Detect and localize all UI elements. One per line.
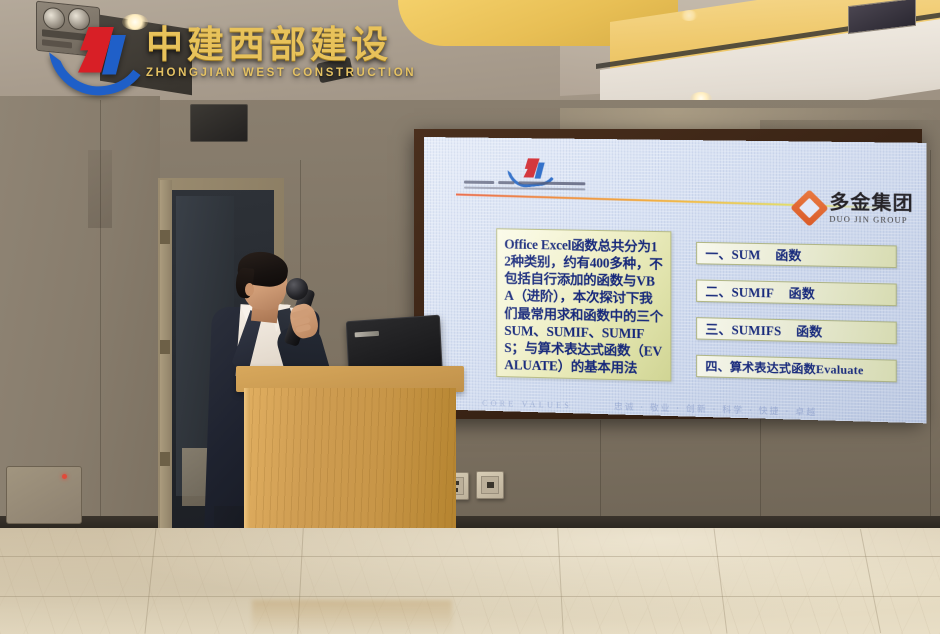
cscec-logo bbox=[464, 158, 587, 194]
door-hinge bbox=[160, 452, 170, 466]
zhongjian-west-construction-logo: 中建西部建设 ZHONGJIAN WEST CONSTRUCTION bbox=[52, 26, 416, 79]
podium-body bbox=[246, 388, 456, 538]
duojin-group-logo: 多金集团 DUO JIN GROUP bbox=[796, 192, 914, 225]
agenda-index: 二、 bbox=[705, 285, 731, 300]
watermark-logo-mark bbox=[52, 27, 136, 79]
downlight-icon bbox=[680, 10, 698, 21]
podium-floor-reflection bbox=[252, 600, 452, 634]
agenda-title: 算术表达式函数Evaluate bbox=[730, 361, 864, 378]
agenda-index: 三、 bbox=[705, 322, 731, 337]
presenter-ear bbox=[245, 283, 254, 296]
slide-paragraph: Office Excel函数总共分为12种类别，约有400多种，不包括自行添加的… bbox=[504, 235, 663, 377]
agenda-index: 一、 bbox=[705, 247, 731, 262]
agenda-suffix: 函数 bbox=[796, 324, 822, 339]
slide-footer-english: CORE VALUES bbox=[482, 398, 572, 410]
duojin-logo-english: DUO JIN GROUP bbox=[829, 216, 913, 226]
tile-grout-line bbox=[0, 596, 940, 597]
floor-reflection bbox=[0, 528, 940, 634]
presentation-slide: 多金集团 DUO JIN GROUP Office Excel函数总共分为12种… bbox=[434, 145, 926, 423]
wall-seam bbox=[600, 420, 601, 520]
agenda-item-sumif: 二、SUMIF函数 bbox=[696, 279, 897, 306]
wall-data-plate[interactable] bbox=[476, 471, 504, 499]
exit-sign-indicator-led bbox=[62, 474, 67, 479]
cscec-logo-wordmark bbox=[464, 181, 587, 194]
wall-speaker bbox=[190, 104, 248, 142]
microphone-head-icon bbox=[286, 278, 308, 300]
slide-paragraph-box: Office Excel函数总共分为12种类别，约有400多种，不包括自行添加的… bbox=[496, 228, 671, 381]
tile-grout-line bbox=[0, 556, 940, 557]
agenda-suffix: 函数 bbox=[775, 248, 801, 263]
watermark-chinese: 中建西部建设 bbox=[146, 26, 416, 63]
screen-surface: 多金集团 DUO JIN GROUP Office Excel函数总共分为12种… bbox=[424, 137, 926, 423]
agenda-item-sumifs: 三、SUMIFS函数 bbox=[696, 317, 897, 344]
agenda-title: SUMIF bbox=[731, 285, 774, 300]
cscec-logo-mark bbox=[508, 158, 553, 181]
podium-edge bbox=[244, 388, 250, 538]
exit-sign-housing bbox=[6, 466, 82, 524]
watermark-english: ZHONGJIAN WEST CONSTRUCTION bbox=[146, 67, 416, 79]
presentation-photo-scene: 多金集团 DUO JIN GROUP Office Excel函数总共分为12种… bbox=[0, 0, 940, 634]
agenda-item-evaluate: 四、算术表达式函数Evaluate bbox=[696, 355, 897, 383]
duojin-logo-chinese: 多金集团 bbox=[829, 193, 913, 214]
agenda-title: SUM bbox=[731, 248, 760, 263]
led-display-screen[interactable]: 多金集团 DUO JIN GROUP Office Excel函数总共分为12种… bbox=[414, 129, 922, 419]
agenda-index: 四、 bbox=[705, 360, 729, 374]
slide-agenda-list: 一、SUM函数 二、SUMIF函数 三、SUMIFS函数 bbox=[696, 242, 897, 398]
door-hinge bbox=[160, 230, 170, 244]
lenovo-logo bbox=[355, 331, 379, 337]
agenda-suffix: 函数 bbox=[789, 286, 815, 301]
wall-seam bbox=[100, 100, 101, 520]
agenda-item-sum: 一、SUM函数 bbox=[696, 242, 897, 268]
agenda-title: SUMIFS bbox=[731, 323, 781, 338]
wall-seam bbox=[930, 150, 931, 520]
duojin-diamond-icon bbox=[790, 189, 828, 227]
door-hinge bbox=[160, 340, 170, 354]
